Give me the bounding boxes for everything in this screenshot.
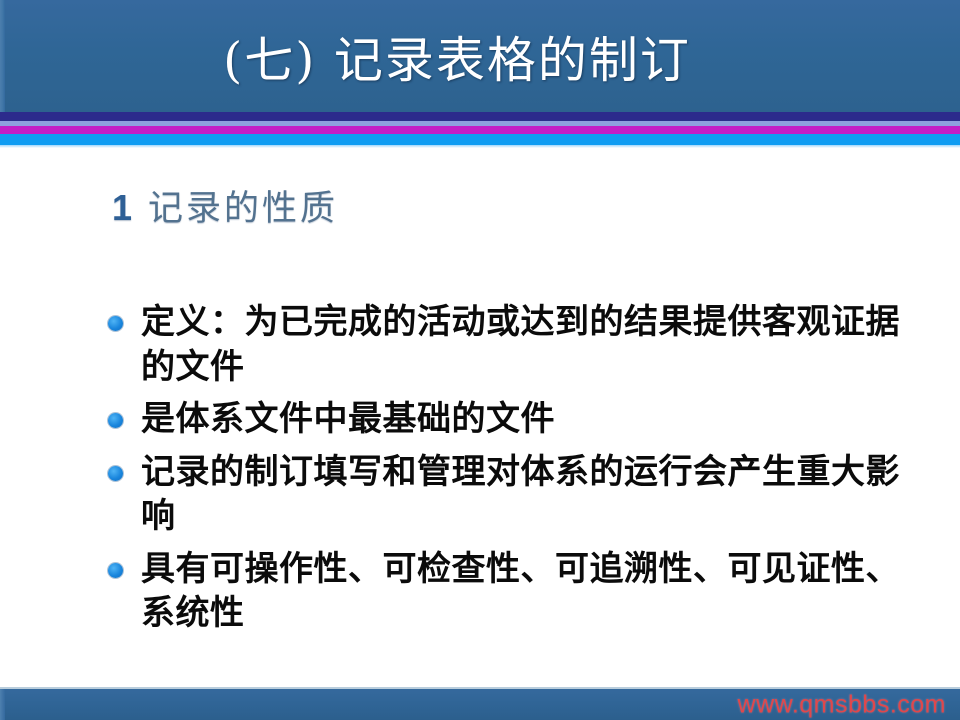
slide-title: (七) 记录表格的制订 <box>0 0 960 112</box>
list-item: 是体系文件中最基础的文件 <box>108 397 918 442</box>
section-heading: 1 记录的性质 <box>112 180 338 231</box>
bullet-text: 具有可操作性、可检查性、可追溯性、可见证性、系统性 <box>141 547 918 636</box>
section-label: 记录的性质 <box>148 180 338 231</box>
slide-body: 1 记录的性质 定义：为已完成的活动或达到的结果提供客观证据的文件 是体系文件中… <box>0 148 960 687</box>
list-item: 定义：为已完成的活动或达到的结果提供客观证据的文件 <box>108 300 918 389</box>
bullet-dot-icon <box>108 316 123 331</box>
section-number: 1 <box>112 187 132 229</box>
bullet-list: 定义：为已完成的活动或达到的结果提供客观证据的文件 是体系文件中最基础的文件 记… <box>108 300 918 644</box>
bullet-dot-icon <box>108 563 123 578</box>
stripe-navy <box>0 112 960 121</box>
bullet-dot-icon <box>108 413 123 428</box>
list-item: 记录的制订填写和管理对体系的运行会产生重大影响 <box>108 450 918 539</box>
watermark-url: www.qmsbbs.com <box>738 690 946 719</box>
header-stripe-group <box>0 112 960 148</box>
stripe-azure <box>0 134 960 145</box>
list-item: 具有可操作性、可检查性、可追溯性、可见证性、系统性 <box>108 547 918 636</box>
bullet-dot-icon <box>108 466 123 481</box>
slide-header-band: (七) 记录表格的制订 <box>0 0 960 112</box>
footer-left-edge-accent <box>0 689 5 720</box>
bullet-text: 定义：为已完成的活动或达到的结果提供客观证据的文件 <box>141 300 918 389</box>
stripe-magenta <box>0 126 960 134</box>
bullet-text: 是体系文件中最基础的文件 <box>141 397 918 442</box>
slide-footer-band: www.qmsbbs.com <box>0 687 960 720</box>
presentation-slide: (七) 记录表格的制订 1 记录的性质 定义：为已完成的活动或达到的结果提供客观… <box>0 0 960 720</box>
bullet-text: 记录的制订填写和管理对体系的运行会产生重大影响 <box>141 450 918 539</box>
